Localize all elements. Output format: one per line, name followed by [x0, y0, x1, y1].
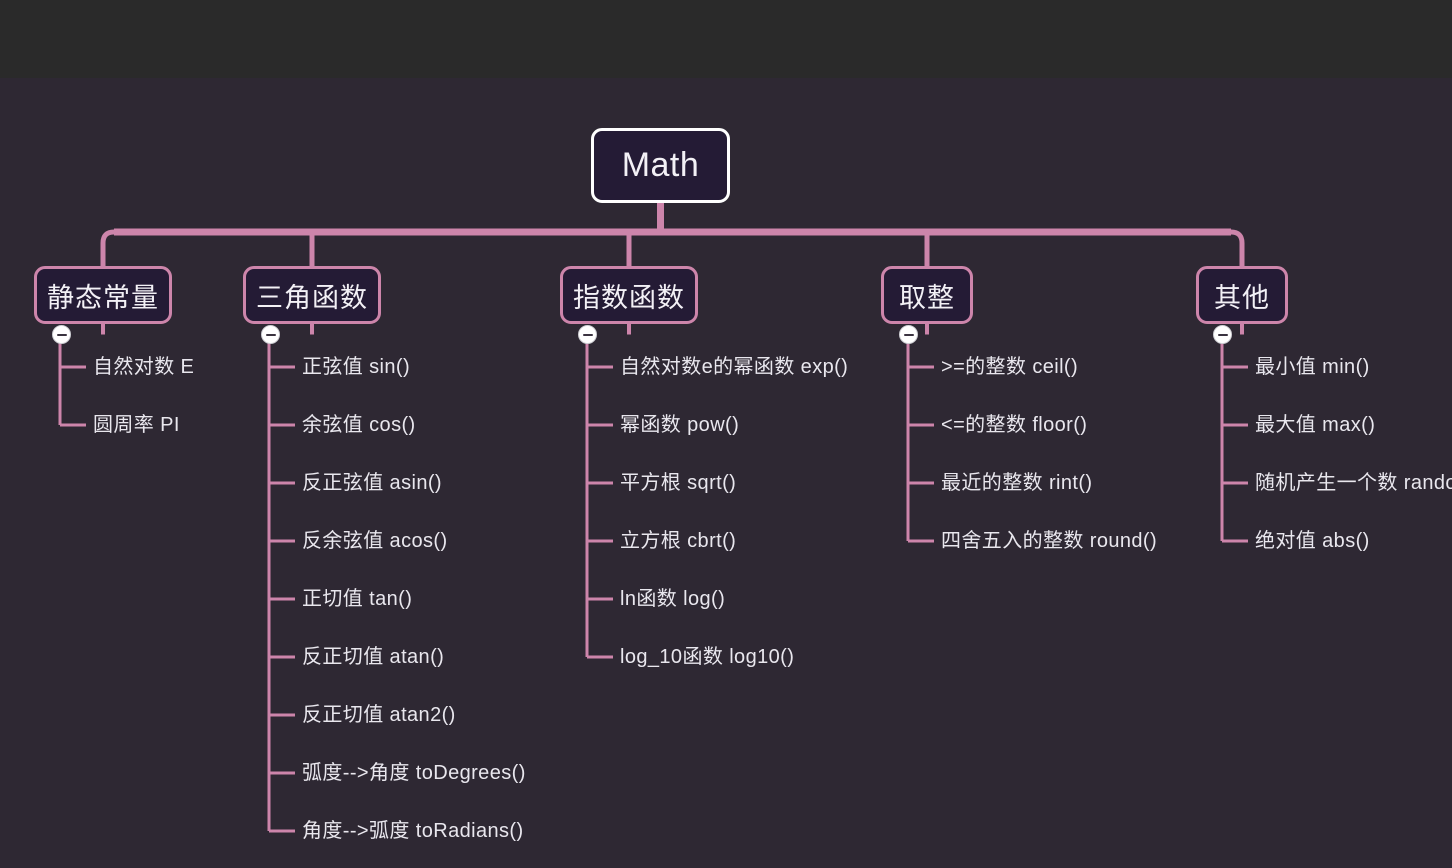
root-node-math[interactable]: Math [591, 128, 730, 203]
leaf-item[interactable]: 反正弦值 asin() [302, 472, 442, 494]
leaf-item[interactable]: 立方根 cbrt() [620, 530, 736, 552]
collapse-toggle-rounding[interactable] [899, 325, 918, 344]
branch-node-static-constants[interactable]: 静态常量 [34, 266, 172, 324]
leaf-item[interactable]: ln函数 log() [620, 588, 725, 610]
leaf-item[interactable]: 反正切值 atan2() [302, 704, 456, 726]
leaf-item[interactable]: 正弦值 sin() [302, 356, 410, 378]
root-node-label: Math [622, 146, 700, 185]
leaf-item[interactable]: >=的整数 ceil() [941, 356, 1078, 378]
leaf-item[interactable]: 余弦值 cos() [302, 414, 416, 436]
leaf-item[interactable]: 随机产生一个数 random() [1255, 472, 1452, 494]
leaf-item[interactable]: 最小值 min() [1255, 356, 1370, 378]
collapse-toggle-other[interactable] [1213, 325, 1232, 344]
leaf-item[interactable]: 四舍五入的整数 round() [941, 530, 1157, 552]
leaf-item[interactable]: 弧度-->角度 toDegrees() [302, 762, 526, 784]
leaf-item[interactable]: 反余弦值 acos() [302, 530, 448, 552]
collapse-toggle-static-constants[interactable] [52, 325, 71, 344]
top-toolbar [0, 0, 1452, 78]
branch-node-label: 取整 [899, 276, 955, 315]
branch-node-label: 其他 [1214, 276, 1270, 315]
leaf-item[interactable]: 平方根 sqrt() [620, 472, 736, 494]
mindmap-app: Math静态常量自然对数 E圆周率 PI三角函数正弦值 sin()余弦值 cos… [0, 0, 1452, 868]
leaf-item[interactable]: 幂函数 pow() [620, 414, 739, 436]
mindmap-canvas[interactable]: Math静态常量自然对数 E圆周率 PI三角函数正弦值 sin()余弦值 cos… [0, 78, 1452, 868]
leaf-item[interactable]: 绝对值 abs() [1255, 530, 1370, 552]
leaf-item[interactable]: 最大值 max() [1255, 414, 1375, 436]
branch-node-exponential[interactable]: 指数函数 [560, 266, 698, 324]
leaf-item[interactable]: <=的整数 floor() [941, 414, 1087, 436]
branch-node-rounding[interactable]: 取整 [881, 266, 973, 324]
branch-node-label: 指数函数 [573, 276, 685, 315]
leaf-item[interactable]: log_10函数 log10() [620, 646, 794, 668]
collapse-toggle-trigonometric[interactable] [261, 325, 280, 344]
leaf-item[interactable]: 自然对数 E [93, 356, 194, 378]
leaf-item[interactable]: 最近的整数 rint() [941, 472, 1092, 494]
branch-node-label: 静态常量 [47, 276, 159, 315]
branch-node-other[interactable]: 其他 [1196, 266, 1288, 324]
collapse-toggle-exponential[interactable] [578, 325, 597, 344]
leaf-item[interactable]: 角度-->弧度 toRadians() [302, 820, 524, 842]
leaf-item[interactable]: 自然对数e的幂函数 exp() [620, 356, 848, 378]
branch-node-trigonometric[interactable]: 三角函数 [243, 266, 381, 324]
leaf-item[interactable]: 圆周率 PI [93, 414, 180, 436]
leaf-item[interactable]: 正切值 tan() [302, 588, 412, 610]
branch-node-label: 三角函数 [256, 276, 368, 315]
leaf-item[interactable]: 反正切值 atan() [302, 646, 444, 668]
